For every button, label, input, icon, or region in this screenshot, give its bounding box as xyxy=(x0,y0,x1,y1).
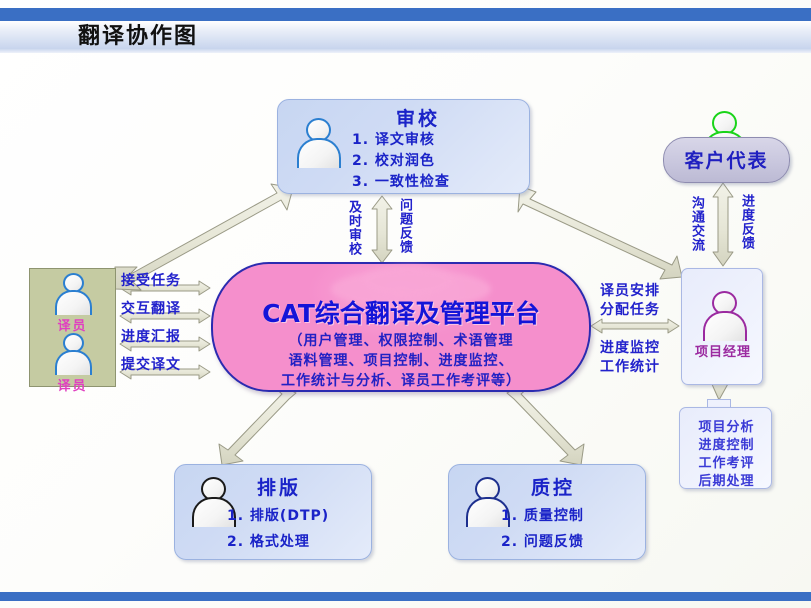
client-title: 客户代表 xyxy=(664,146,789,173)
dtp-item-1: 1. 排版(DTP) xyxy=(227,505,329,525)
pm-note-4: 后期处理 xyxy=(680,470,773,489)
review-title: 审校 xyxy=(396,104,440,131)
arrow-client-pm xyxy=(713,183,733,266)
qc-title: 质控 xyxy=(531,473,575,500)
pm-note-3: 工作考评 xyxy=(680,452,773,471)
platform-subtitle-1: （用户管理、权限控制、术语管理 xyxy=(213,330,589,350)
edge-label-allocate-task: 分配任务 xyxy=(600,299,660,319)
qc-item-2: 2. 问题反馈 xyxy=(501,531,584,551)
node-review[interactable]: 审校 1. 译文审核 2. 校对润色 3. 一致性检查 xyxy=(277,99,530,194)
cloud-decor-2 xyxy=(363,266,453,296)
node-pm-notes[interactable]: 项目分析 进度控制 工作考评 后期处理 xyxy=(679,407,772,489)
review-item-2: 2. 校对润色 xyxy=(352,150,435,170)
platform-subtitle-3: 工作统计与分析、译员工作考评等） xyxy=(213,370,589,390)
dtp-title: 排版 xyxy=(257,473,301,500)
review-item-3: 3. 一致性检查 xyxy=(352,171,450,191)
node-qc[interactable]: 质控 1. 质量控制 2. 问题反馈 xyxy=(448,464,646,560)
pm-title: 项目经理 xyxy=(682,341,764,360)
arrow-platform-pm xyxy=(591,319,679,333)
edge-label-communication: 沟通交流 xyxy=(690,196,703,252)
edge-label-timely-review: 及时审校 xyxy=(347,200,360,256)
slide-canvas: 翻译协作图 xyxy=(0,0,811,608)
node-project-manager[interactable]: 项目经理 xyxy=(681,268,763,385)
edge-label-issue-feedback: 问题反馈 xyxy=(398,198,411,254)
person-icon xyxy=(294,118,340,166)
arrow-platform-qc xyxy=(507,386,584,465)
translator-label-1: 译员 xyxy=(30,315,115,334)
person-icon-translator-1 xyxy=(53,273,91,313)
qc-item-1: 1. 质量控制 xyxy=(501,505,584,525)
node-cat-platform[interactable]: CAT综合翻译及管理平台 （用户管理、权限控制、术语管理 语料管理、项目控制、进… xyxy=(211,262,591,392)
platform-subtitle-2: 语料管理、项目控制、进度监控、 xyxy=(213,350,589,370)
edge-label-assign-translator: 译员安排 xyxy=(600,280,660,300)
arrow-review-platform xyxy=(372,196,392,263)
edge-label-progress-report: 进度汇报 xyxy=(121,326,181,346)
edge-label-accept-task: 接受任务 xyxy=(121,270,181,290)
dtp-item-2: 2. 格式处理 xyxy=(227,531,310,551)
node-translators[interactable]: 译员 译员 xyxy=(29,268,116,387)
pm-note-2: 进度控制 xyxy=(680,434,773,453)
person-icon-translator-2 xyxy=(53,333,91,373)
arrow-platform-dtp xyxy=(219,386,296,465)
translator-label-2: 译员 xyxy=(30,375,115,394)
edge-label-progress-feedback: 进度反馈 xyxy=(740,194,753,250)
edge-label-submit-trans: 提交译文 xyxy=(121,354,181,374)
node-client-representative[interactable]: 客户代表 xyxy=(663,137,790,183)
edge-label-interactive-trans: 交互翻译 xyxy=(121,298,181,318)
edge-label-work-statistics: 工作统计 xyxy=(600,356,660,376)
pm-note-1: 项目分析 xyxy=(680,416,773,435)
review-item-1: 1. 译文审核 xyxy=(352,129,435,149)
edge-label-progress-monitor: 进度监控 xyxy=(600,337,660,357)
person-icon-pm xyxy=(700,291,746,339)
platform-title: CAT综合翻译及管理平台 xyxy=(213,294,589,330)
node-dtp[interactable]: 排版 1. 排版(DTP) 2. 格式处理 xyxy=(174,464,372,560)
